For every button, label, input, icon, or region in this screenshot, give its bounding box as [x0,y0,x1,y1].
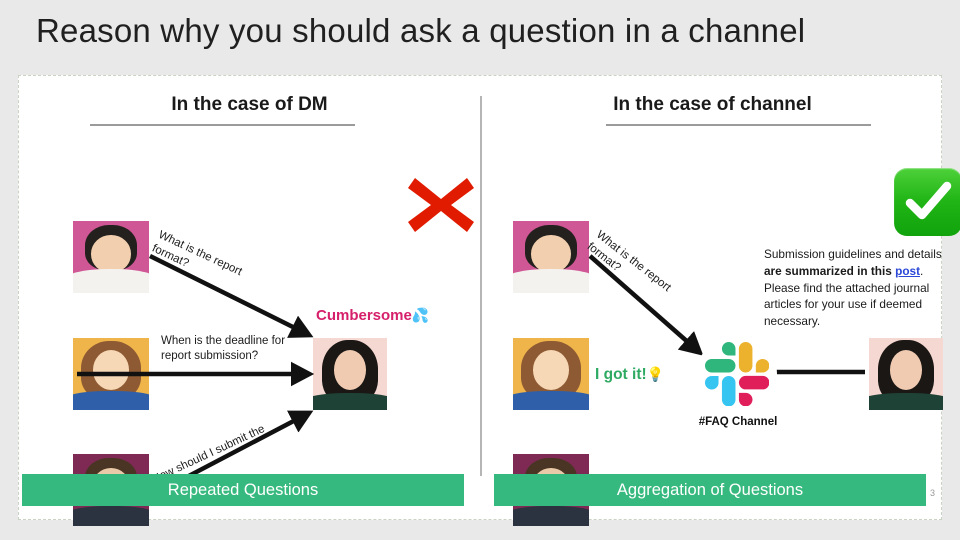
panel-dm-heading-text: In the case of DM [171,94,327,123]
panel-channel-heading: In the case of channel [482,94,943,123]
asker-photo-2 [73,338,149,410]
lightbulb-icon: 💡 [647,366,664,382]
acknowledgement-1-text: I got it! [595,366,647,383]
page-number: 3 [930,488,935,498]
channel-label: #FAQ Channel [674,416,802,428]
cumbersome-reaction: Cumbersome💦 [316,307,429,324]
dm-question-2: When is the deadline for report submissi… [161,334,285,364]
page-title: Reason why you should ask a question in … [36,12,936,50]
responder-photo [869,338,943,410]
asker-photo-1 [513,221,589,293]
banner-aggregation-of-questions: Aggregation of Questions [494,474,926,506]
panel-dm: In the case of DM [19,76,480,519]
dm-question-1: What is the report format? [149,228,244,294]
message-part-1: Submission guidelines and details [764,247,942,261]
channel-message: Submission guidelines and details are su… [764,246,958,330]
sweat-drops-icon: 💦 [412,307,429,323]
slack-logo-icon[interactable] [705,342,769,406]
asker-photo-1 [73,221,149,293]
cumbersome-text: Cumbersome [316,307,412,324]
panel-channel-heading-rule [606,124,871,126]
receiver-photo [313,338,387,410]
panel-channel-heading-text: In the case of channel [613,94,812,123]
acknowledgement-1: I got it!💡 [595,366,664,384]
slide-root: Reason why you should ask a question in … [0,0,960,540]
channel-question-1: What is the report format? [583,228,673,308]
asker-photo-2 [513,338,589,410]
message-bold-1: are summarized in this [764,264,895,278]
panel-dm-heading: In the case of DM [19,94,480,123]
post-link[interactable]: post [895,264,920,278]
banner-repeated-questions: Repeated Questions [22,474,464,506]
green-check-icon [894,168,960,236]
panel-dm-heading-rule [90,124,355,126]
red-cross-icon [404,172,478,238]
content-card: In the case of DM [18,75,942,520]
